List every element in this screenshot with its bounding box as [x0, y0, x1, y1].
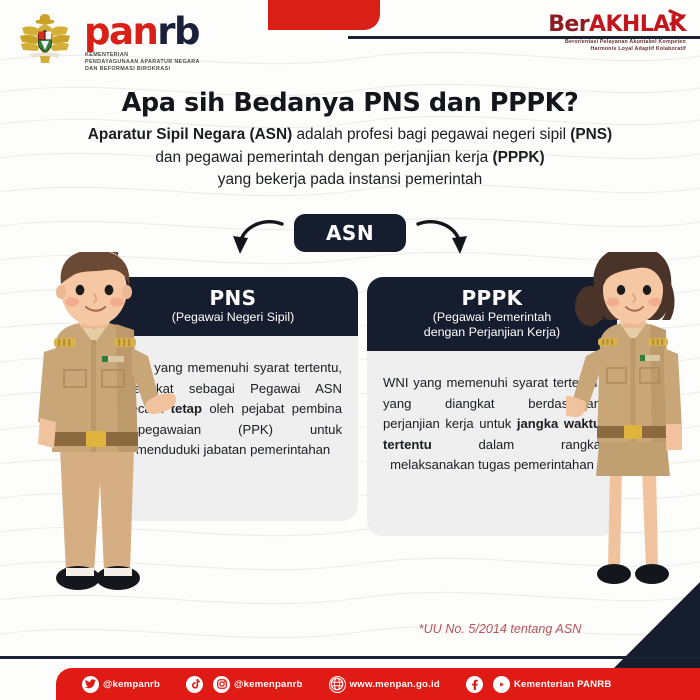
berakhlak-wordmark: BerAKHLAK — [496, 12, 686, 37]
berakhlak-tagline: Berorientasi Pelayanan Akuntabel Kompete… — [496, 39, 686, 54]
berakhlak-swoosh-icon — [666, 8, 688, 30]
male-civil-servant-illustration — [8, 252, 176, 632]
berakhlak-tagline-line-2: Harmonis Loyal Adaptif Kolaboratif — [496, 46, 686, 53]
ministry-name: KEMENTERIAN PENDAYAGUNAAN APARATUR NEGAR… — [85, 52, 200, 74]
ministry-line-2: PENDAYAGUNAAN APARATUR NEGARA — [85, 59, 200, 66]
footer: @kempanrb @kemenpanrb www.menpan.go.id — [0, 656, 700, 700]
subtitle-bold-pns: (PNS) — [570, 126, 612, 143]
footer-divider-line — [0, 656, 700, 659]
asn-badge: ASN — [294, 214, 406, 252]
garuda-emblem-icon — [14, 10, 76, 68]
social-facebook-youtube[interactable]: Kementerian PANRB — [466, 676, 612, 693]
instagram-icon — [213, 676, 230, 693]
subtitle-text-3: yang bekerja pada instansi pemerintah — [218, 171, 482, 188]
twitter-icon — [82, 676, 99, 693]
page-header: panrb KEMENTERIAN PENDAYAGUNAAN APARATUR… — [0, 0, 700, 78]
berakhlak-tagline-line-1: Berorientasi Pelayanan Akuntabel Kompete… — [496, 39, 686, 46]
facebook-youtube-channel: Kementerian PANRB — [514, 679, 612, 690]
social-tiktok-instagram[interactable]: @kemenpanrb — [186, 676, 303, 693]
facebook-icon — [466, 676, 483, 693]
berakhlak-wordmark-ber: Ber — [548, 12, 589, 37]
website-link[interactable]: www.menpan.go.id — [329, 676, 440, 693]
panrb-wordmark-rb: rb — [157, 10, 199, 53]
ministry-line-3: DAN REFORMASI BIROKRASI — [85, 66, 200, 73]
infographic-canvas: panrb KEMENTERIAN PENDAYAGUNAAN APARATUR… — [0, 0, 700, 700]
globe-icon — [329, 676, 346, 693]
page-subtitle: Aparatur Sipil Negara (ASN) adalah profe… — [52, 124, 648, 192]
panrb-wordmark: panrb — [84, 10, 199, 53]
subtitle-bold-asn: Aparatur Sipil Negara (ASN) — [88, 126, 292, 143]
panrb-wordmark-pan: pan — [84, 10, 157, 53]
website-url: www.menpan.go.id — [350, 679, 440, 690]
subtitle-text-2: dan pegawai pemerintah dengan perjanjian… — [155, 149, 492, 166]
arrow-left-icon — [228, 216, 286, 260]
page-title: Apa sih Bedanya PNS dan PPPK? — [0, 88, 700, 118]
red-header-banner — [268, 0, 380, 30]
social-twitter[interactable]: @kempanrb — [82, 676, 160, 693]
twitter-handle: @kempanrb — [103, 679, 160, 690]
tiktok-icon — [186, 676, 203, 693]
instagram-tiktok-handle: @kemenpanrb — [234, 679, 303, 690]
youtube-icon — [493, 676, 510, 693]
female-civil-servant-illustration — [566, 252, 700, 632]
arrow-right-icon — [414, 216, 472, 260]
berakhlak-logo: BerAKHLAK Berorientasi Pelayanan Akuntab… — [496, 12, 686, 54]
social-media-bar: @kempanrb @kemenpanrb www.menpan.go.id — [56, 668, 700, 700]
ministry-line-1: KEMENTERIAN — [85, 52, 200, 59]
subtitle-text-1: adalah profesi bagi pegawai negeri sipil — [292, 126, 570, 143]
subtitle-bold-pppk: (PPPK) — [492, 149, 544, 166]
